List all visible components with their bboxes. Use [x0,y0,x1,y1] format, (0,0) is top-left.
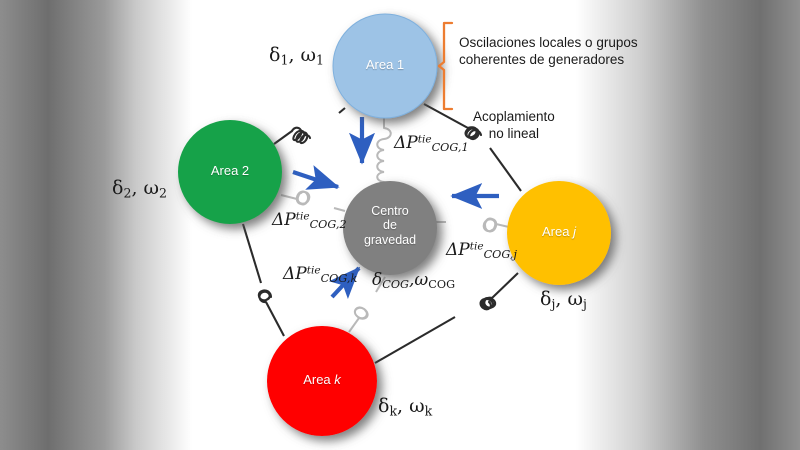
tie-label-2: ΔPtieCOG,2 [272,210,347,231]
node-area2[interactable] [178,120,282,224]
node-areak[interactable] [267,326,377,436]
annotation-local-oscillations: Oscilaciones locales o grupos coherentes… [459,35,638,69]
state-label-area2: δ2, ω2 [112,177,167,201]
diagram-graphics [0,0,800,450]
state-area1-delta-sub: 1 [280,53,288,68]
state-areak-delta-sub: k [389,404,397,419]
state-area2-omega-sub: 2 [159,186,167,201]
link-areak-area2 [243,224,284,336]
node-area1[interactable] [333,14,437,118]
state-area1-omega-sub: 1 [316,53,324,68]
state-areaj-omega-sub: j [583,297,587,312]
nonlinear-coupling-line-1: Acoplamiento [473,109,555,126]
state-cog-omega-sub: COG [428,278,455,291]
bracket-local-oscillations [439,23,452,109]
spoke-area2-cog [281,191,345,211]
link-area2-area1 [274,108,345,144]
tie-label-1: ΔPtieCOG,1 [394,133,469,154]
tie-j-sup: tie [470,241,484,253]
state-label-areaj: δj, ωj [540,288,587,312]
tie-label-j: ΔPtieCOG,j [446,240,517,261]
arrow-area2-to-cog [293,172,338,187]
tie-k-sup: tie [307,265,321,277]
state-cog-delta-sub: COG [382,278,409,291]
spoke-areaj-cog [434,218,509,231]
state-label-area1: δ1, ω1 [269,44,324,68]
spoke-area1-cog [377,112,391,190]
state-label-areak: δk, ωk [378,395,432,419]
local-oscillations-line-1: Oscilaciones locales o grupos [459,35,638,52]
node-areaj[interactable] [507,181,611,285]
state-areaj-delta-sub: j [551,297,555,312]
node-cog[interactable] [343,181,437,275]
tie-2-sub: COG,2 [310,218,347,231]
tie-k-sub: COG,k [321,272,358,285]
local-oscillations-line-2: coherentes de generadores [459,52,638,69]
nonlinear-coupling-line-2: no lineal [473,126,555,143]
state-areak-omega-sub: k [425,404,433,419]
state-label-cog: δCOG,ωCOG [372,270,455,291]
tie-1-sup: tie [418,134,432,146]
tie-2-sup: tie [296,211,310,223]
diagram-canvas: Area 1 Area 2 Area j Area k Centro de gr… [0,0,800,450]
annotation-nonlinear-coupling: Acoplamiento no lineal [473,109,555,143]
tie-1-sub: COG,1 [432,141,469,154]
tie-j-sub: COG,j [484,248,517,261]
tie-label-k: ΔPtieCOG,k [283,264,357,285]
state-area2-delta-sub: 2 [123,186,131,201]
